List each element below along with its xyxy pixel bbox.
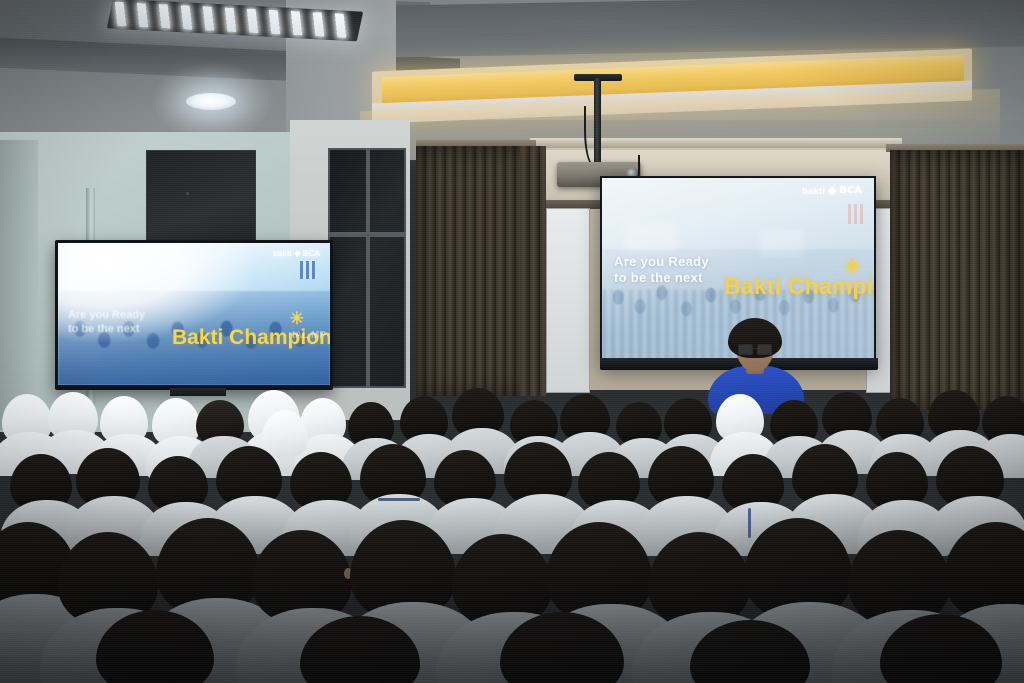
wood-slat-wall-center <box>416 146 532 396</box>
lanyard <box>748 508 751 538</box>
tv-logo-bca: BCA <box>303 249 320 258</box>
eyeglasses-icon <box>738 344 772 353</box>
slide-text-block: Are you Ready to be the next Bakti Champ… <box>614 254 709 286</box>
door-mullion <box>366 148 370 388</box>
slide-blob-left <box>624 223 678 253</box>
wall-speaker-panel <box>146 150 256 250</box>
diamond-icon <box>828 186 836 194</box>
wall-mounted-tv[interactable]: bakti BCA Are you Ready to be the next B… <box>58 243 330 385</box>
slide-line-2: to be the next <box>614 270 709 286</box>
tv-slide-bars-graphic <box>300 261 316 279</box>
slide-logo-bakti: bakti <box>802 186 825 196</box>
tv-slide-line-1: Are you Ready <box>68 309 145 323</box>
diamond-icon <box>294 250 301 257</box>
door-rail <box>328 232 406 237</box>
student-audience <box>0 372 1024 683</box>
tv-slide-logo: bakti BCA <box>273 249 320 258</box>
tv-logo-bakti: bakti <box>273 249 292 258</box>
tv-slide-watermark: IAL MP <box>292 331 326 342</box>
seminar-hall-photo: bakti BCA Are you Ready to be the next B… <box>0 0 1024 683</box>
slide-line-1: Are you Ready <box>614 254 709 270</box>
slide-blob-right <box>760 230 804 256</box>
sparkle-icon: ✳ <box>844 256 860 279</box>
wood-slat-wall-right <box>890 150 1024 410</box>
slide-flag-graphic <box>848 204 864 224</box>
tv-slide-line-2: to be the next <box>68 323 145 337</box>
whiteboard-left-section <box>546 208 590 393</box>
tv-slide-text-block: Are you Ready to be the next Bakti Champ… <box>68 309 145 337</box>
slide-logo: bakti BCA <box>802 185 862 196</box>
wood-slat-wall-strip <box>520 146 546 396</box>
slide-logo-bca: BCA <box>839 185 862 196</box>
recessed-downlight-icon <box>186 93 236 110</box>
uniform-collar <box>378 498 420 501</box>
sparkle-icon: ✳ <box>290 309 304 329</box>
projector-cable-upper <box>584 106 600 166</box>
